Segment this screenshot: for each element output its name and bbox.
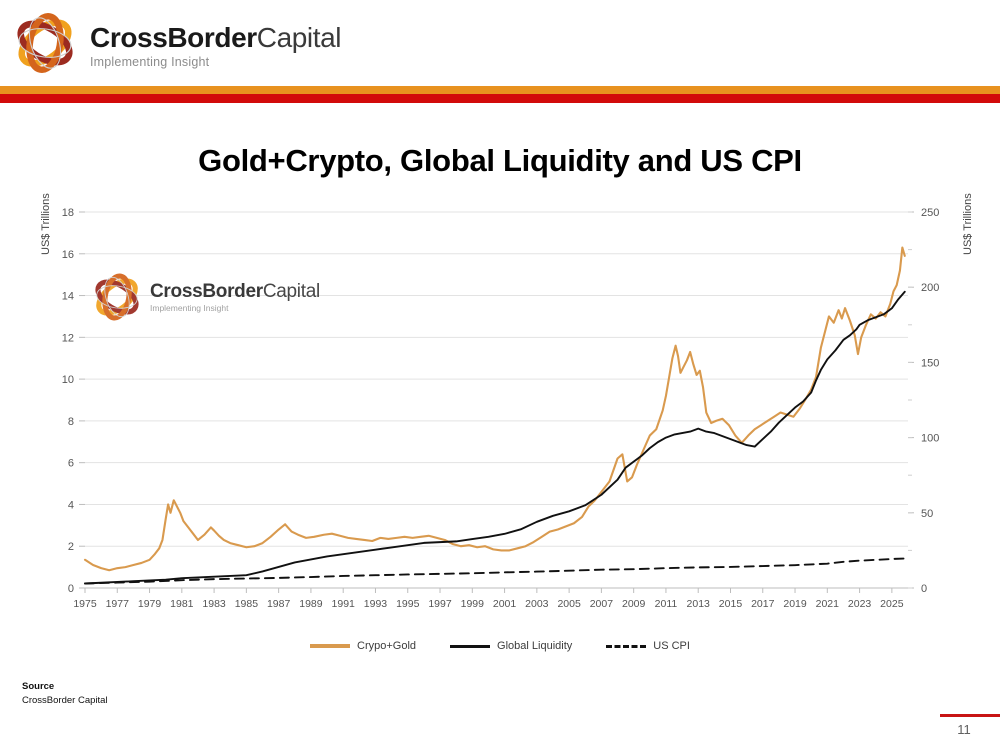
y-axis-left-tick-label: 14 (62, 291, 74, 303)
series-line-global-liquidity (85, 292, 905, 584)
page-number: 11 (940, 722, 988, 737)
brand-name: CrossBorderCapital (90, 24, 341, 52)
legend-label-crypto-gold: Crypo+Gold (357, 640, 416, 652)
header-red-divider (0, 94, 1000, 103)
y-axis-right-tick-label: 0 (921, 583, 927, 595)
x-axis-tick-label: 1989 (299, 598, 323, 610)
y-axis-right-tick-label: 50 (921, 508, 933, 520)
legend-item-us-cpi: US CPI (606, 640, 690, 652)
chart-container: 0246810121416180501001502002501975197719… (0, 180, 1000, 660)
x-axis-tick-label: 2001 (493, 598, 517, 610)
brand-name-bold: CrossBorder (90, 22, 257, 53)
x-axis-tick-label: 1995 (396, 598, 420, 610)
x-axis-tick-label: 2009 (622, 598, 646, 610)
y-axis-left-tick-label: 8 (68, 416, 74, 428)
brand-name-light: Capital (257, 22, 341, 53)
y-axis-left-tick-label: 0 (68, 583, 74, 595)
x-axis-tick-label: 2013 (687, 598, 711, 610)
brand-wordmark: CrossBorderCapital Implementing Insight (90, 24, 341, 69)
footer-red-divider (940, 714, 1000, 717)
x-axis-tick-label: 1975 (73, 598, 97, 610)
x-axis-tick-label: 2007 (590, 598, 614, 610)
x-axis-tick-label: 2021 (816, 598, 840, 610)
x-axis-tick-label: 2005 (557, 598, 581, 610)
legend-swatch-crypto-gold (310, 644, 350, 648)
x-axis-tick-label: 2023 (848, 598, 872, 610)
y-axis-right-tick-label: 200 (921, 282, 939, 294)
source-label: Source (22, 680, 108, 694)
legend-swatch-global-liquidity (450, 645, 490, 648)
y-axis-left-tick-label: 4 (68, 499, 74, 511)
series-line-us-cpi (85, 559, 905, 584)
x-axis-tick-label: 2011 (655, 598, 678, 610)
y-axis-right-tick-label: 250 (921, 207, 939, 219)
x-axis-tick-label: 1981 (170, 598, 194, 610)
x-axis-tick-label: 2025 (880, 598, 904, 610)
y-axis-left-title: US$ Trillions (40, 237, 52, 255)
chart-legend: Crypo+Gold Global Liquidity US CPI (0, 640, 1000, 652)
chart-svg: 0246810121416180501001502002501975197719… (0, 180, 1000, 660)
x-axis-tick-label: 1991 (332, 598, 356, 610)
y-axis-left-tick-label: 12 (62, 332, 74, 344)
y-axis-left-tick-label: 6 (68, 458, 74, 470)
y-axis-left-tick-label: 2 (68, 541, 74, 553)
legend-item-crypto-gold: Crypo+Gold (310, 640, 416, 652)
y-axis-right-tick-label: 100 (921, 433, 939, 445)
x-axis-tick-label: 1993 (364, 598, 388, 610)
slide-header: CrossBorderCapital Implementing Insight (0, 0, 1000, 84)
source-block: Source CrossBorder Capital (22, 680, 108, 708)
y-axis-left-tick-label: 10 (62, 374, 74, 386)
y-axis-left-tick-label: 16 (62, 249, 74, 261)
source-value: CrossBorder Capital (22, 694, 108, 708)
crossborder-logo-icon (8, 9, 82, 77)
x-axis-tick-label: 2019 (783, 598, 807, 610)
y-axis-left-tick-label: 18 (62, 207, 74, 219)
x-axis-tick-label: 2015 (719, 598, 743, 610)
x-axis-tick-label: 2017 (751, 598, 775, 610)
x-axis-tick-label: 1985 (235, 598, 259, 610)
y-axis-right-title: US$ Trillions (962, 237, 974, 255)
x-axis-tick-label: 1977 (106, 598, 130, 610)
legend-label-global-liquidity: Global Liquidity (497, 640, 572, 652)
x-axis-tick-label: 2003 (525, 598, 549, 610)
page-title: Gold+Crypto, Global Liquidity and US CPI (0, 143, 1000, 179)
x-axis-tick-label: 1987 (267, 598, 291, 610)
legend-label-us-cpi: US CPI (653, 640, 690, 652)
x-axis-tick-label: 1997 (428, 598, 452, 610)
legend-item-global-liquidity: Global Liquidity (450, 640, 572, 652)
brand-tagline: Implementing Insight (90, 56, 341, 69)
y-axis-right-tick-label: 150 (921, 357, 939, 369)
x-axis-tick-label: 1999 (461, 598, 485, 610)
x-axis-tick-label: 1979 (138, 598, 162, 610)
x-axis-tick-label: 1983 (202, 598, 226, 610)
legend-swatch-us-cpi (606, 645, 646, 648)
header-orange-divider (0, 86, 1000, 94)
